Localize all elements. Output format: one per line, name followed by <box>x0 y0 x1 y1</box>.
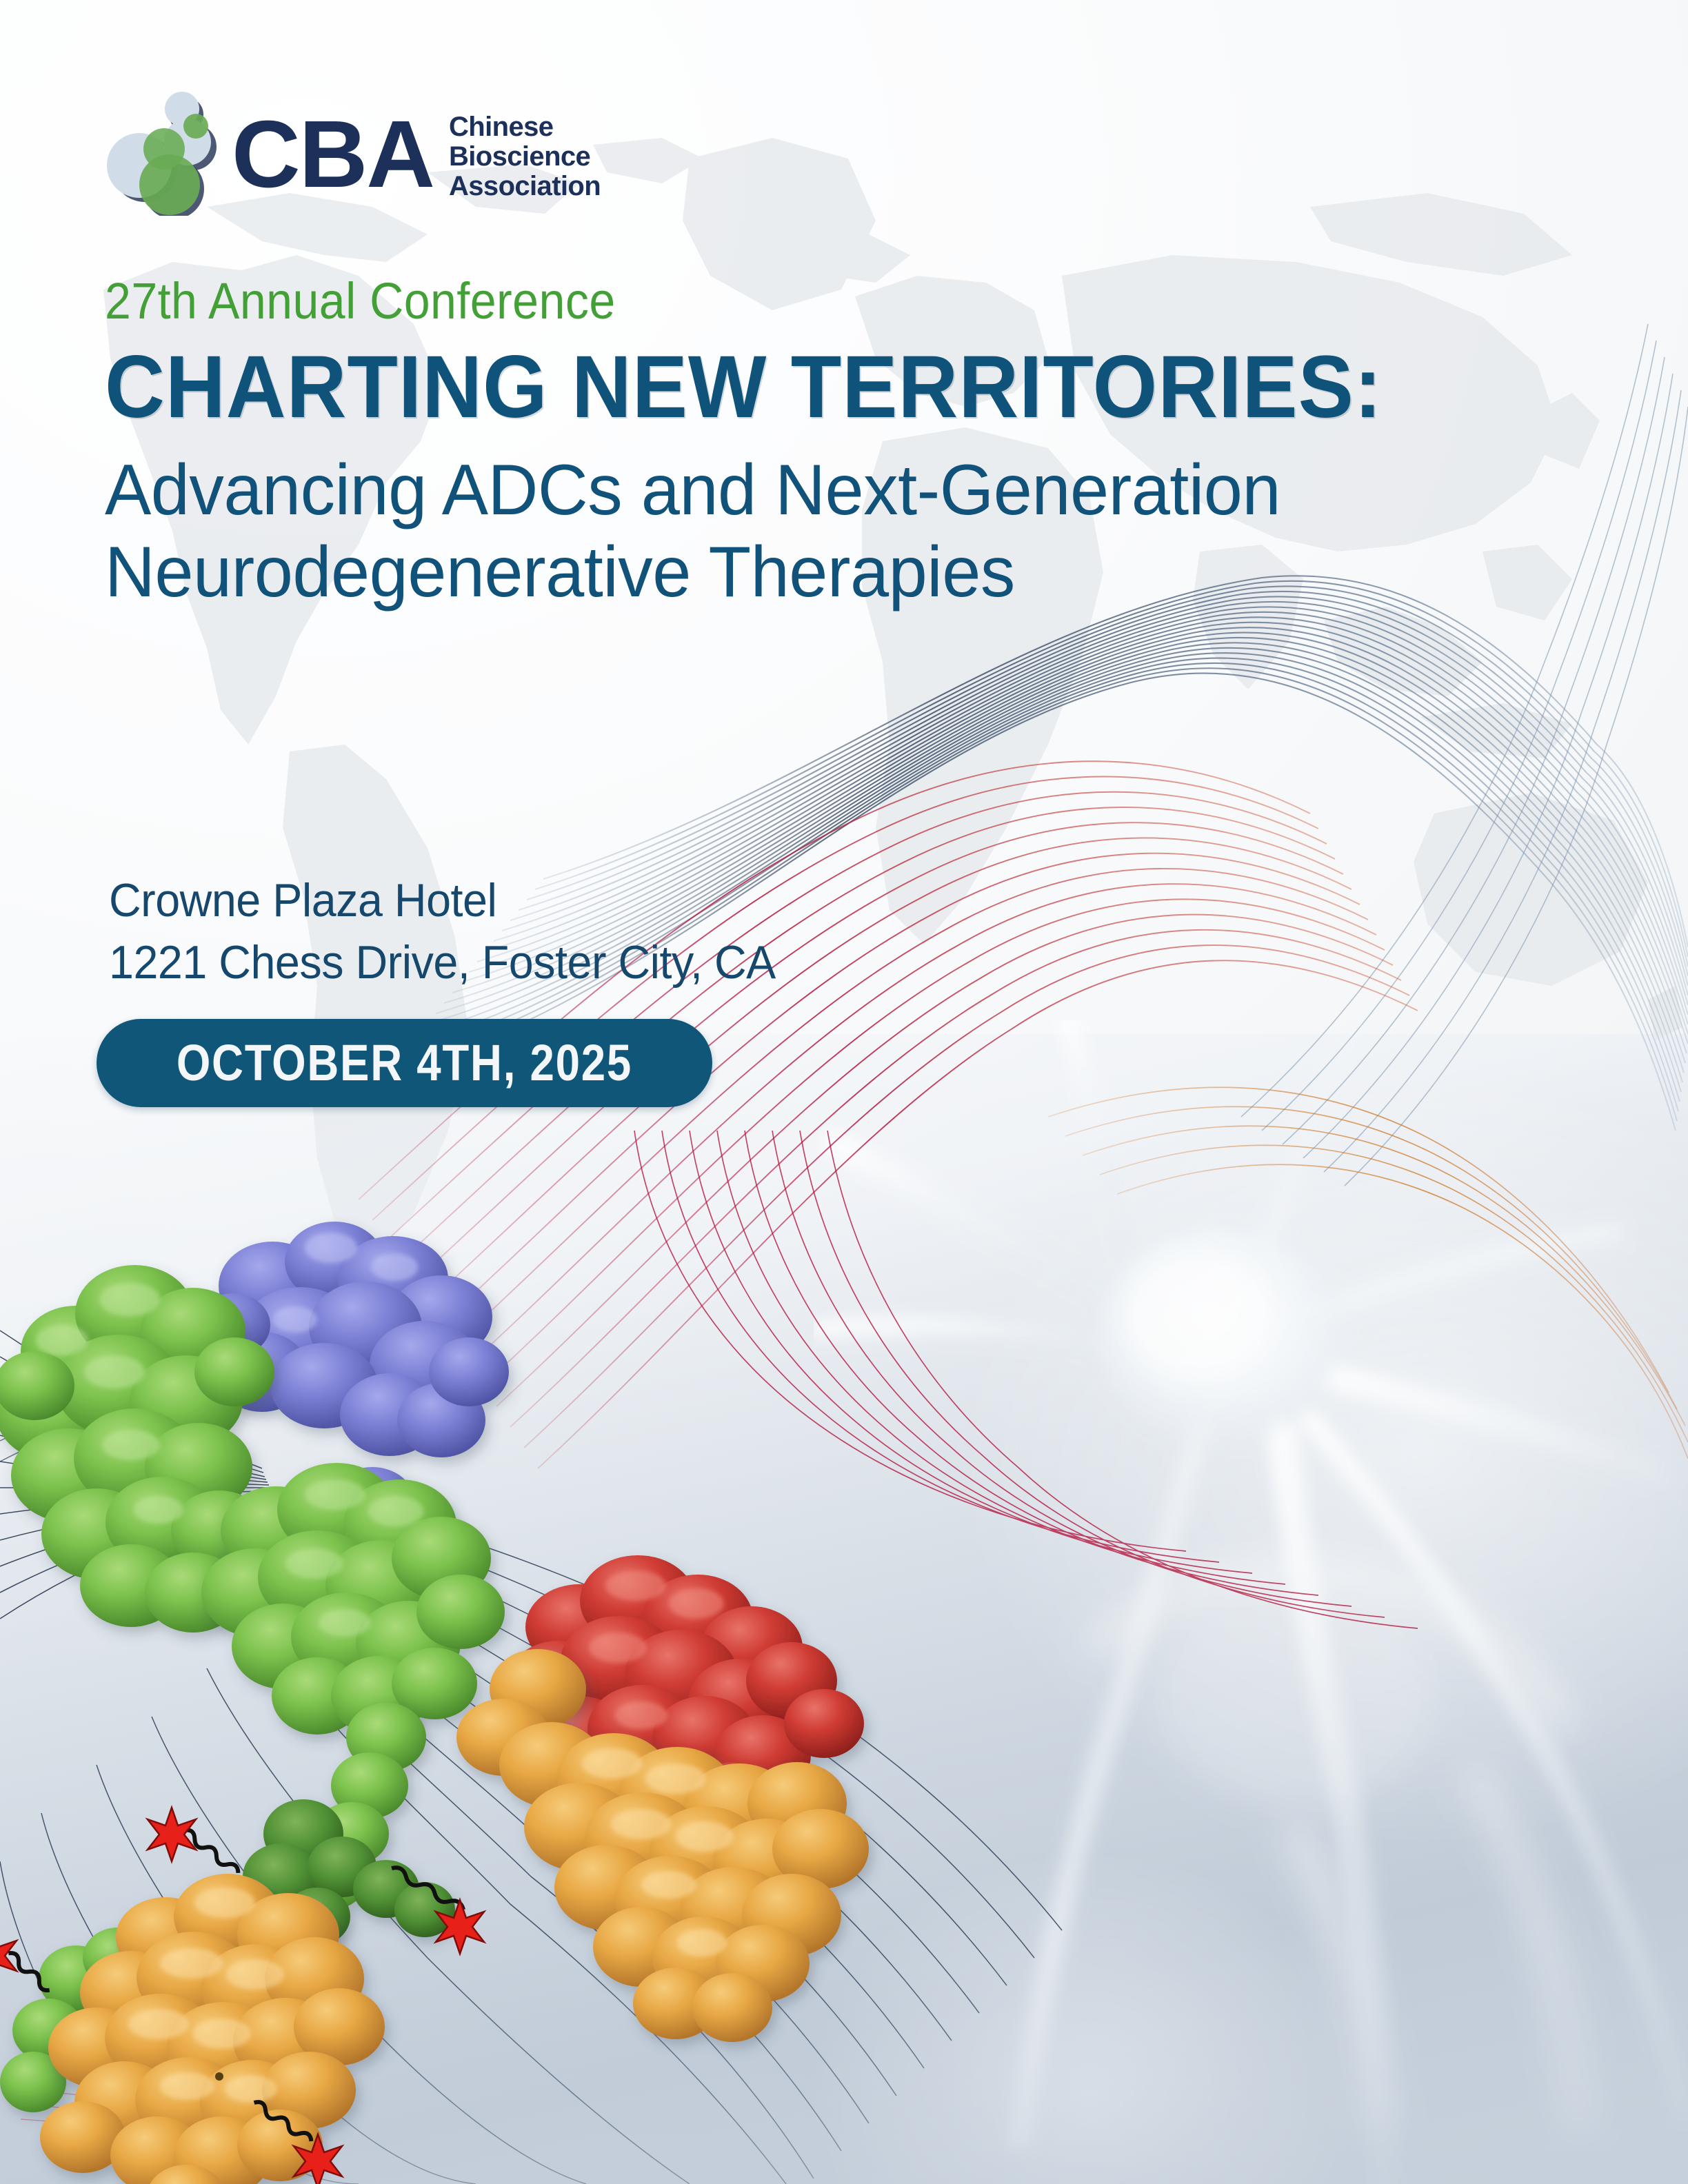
subtitle-line-2: Neurodegenerative Therapies <box>105 532 1576 614</box>
logo-name-line-3: Association <box>449 172 601 201</box>
event-date-badge: OCTOBER 4TH, 2025 <box>97 1019 712 1107</box>
cba-logo: CBA Chinese Bioscience Association <box>103 88 601 216</box>
venue-block: Crowne Plaza Hotel 1221 Chess Drive, Fos… <box>109 870 811 994</box>
conference-edition-label: 27th Annual Conference <box>105 276 1500 327</box>
venue-address: 1221 Chess Drive, Foster City, CA <box>109 932 776 994</box>
subtitle-line-1: Advancing ADCs and Next-Generation <box>105 449 1576 532</box>
event-date-text: OCTOBER 4TH, 2025 <box>177 1038 632 1089</box>
logo-acronym: CBA <box>232 114 434 196</box>
logo-name-line-1: Chinese <box>449 112 601 142</box>
poster-content: CBA Chinese Bioscience Association 27th … <box>0 0 1688 2184</box>
headline-block: 27th Annual Conference CHARTING NEW TERR… <box>105 276 1622 613</box>
page-subtitle: Advancing ADCs and Next-Generation Neuro… <box>105 449 1576 613</box>
logo-name-line-2: Bioscience <box>449 142 601 172</box>
cba-circles-logo-icon <box>103 88 234 216</box>
venue-name: Crowne Plaza Hotel <box>109 870 776 932</box>
page-title: CHARTING NEW TERRITORIES: <box>105 343 1531 432</box>
logo-organization-name: Chinese Bioscience Association <box>449 112 601 202</box>
conference-poster: CBA Chinese Bioscience Association 27th … <box>0 0 1688 2184</box>
